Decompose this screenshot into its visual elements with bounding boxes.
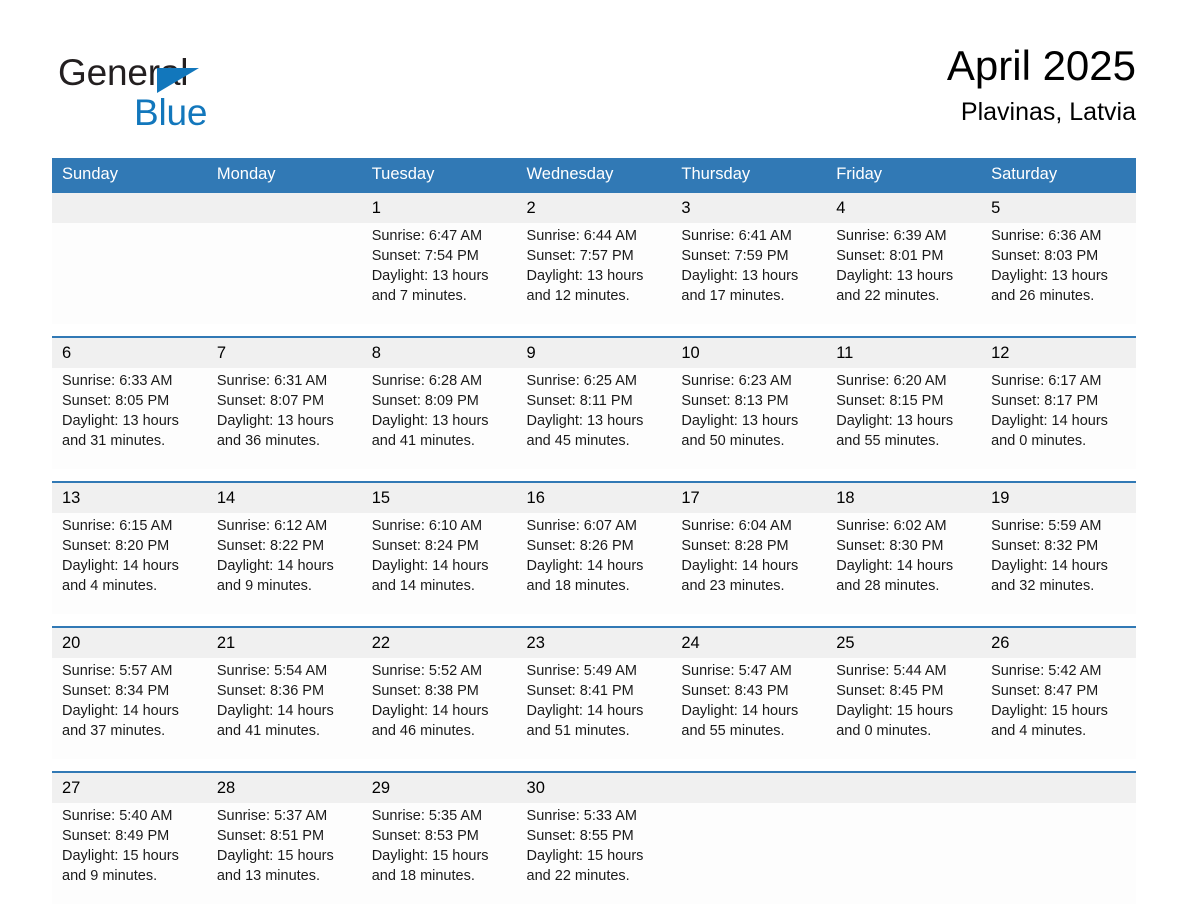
day-detail-line [217,286,354,306]
day-number-23[interactable]: 23 [517,627,672,658]
day-number-25[interactable]: 25 [826,627,981,658]
day-number-empty [52,192,207,223]
day-number-13[interactable]: 13 [52,482,207,513]
day-detail-line: and 41 minutes. [217,721,354,741]
day-detail-line: and 51 minutes. [527,721,664,741]
day-detail-line: Sunrise: 5:47 AM [681,661,818,681]
logo-triangle-icon [157,68,199,93]
day-detail-line: Sunrise: 5:40 AM [62,806,199,826]
page-title: April 2025 [947,40,1136,92]
day-detail-line: Daylight: 14 hours [62,701,199,721]
day-cell-2[interactable]: Sunrise: 6:44 AMSunset: 7:57 PMDaylight:… [517,223,672,324]
day-detail-line: Sunset: 8:38 PM [372,681,509,701]
day-number-24[interactable]: 24 [671,627,826,658]
day-detail-line: and 28 minutes. [836,576,973,596]
logo-text-blue: Blue [134,92,207,133]
day-number-empty [826,772,981,803]
day-detail-line: and 41 minutes. [372,431,509,451]
week-content-row: Sunrise: 6:33 AMSunset: 8:05 PMDaylight:… [52,368,1136,469]
week-daynumber-row: 27282930 [52,772,1136,803]
day-number-4[interactable]: 4 [826,192,981,223]
day-detail-line [681,866,818,886]
weekday-header-thursday: Thursday [671,158,826,191]
day-number-27[interactable]: 27 [52,772,207,803]
week-daynumber-row: 13141516171819 [52,482,1136,513]
day-detail-line: Sunset: 8:11 PM [527,391,664,411]
day-detail-line: and 26 minutes. [991,286,1128,306]
day-detail-line: and 18 minutes. [372,866,509,886]
day-detail-line: Daylight: 13 hours [681,411,818,431]
day-detail-line: Sunrise: 5:57 AM [62,661,199,681]
day-detail-line: Daylight: 13 hours [836,411,973,431]
weekday-header-monday: Monday [207,158,362,191]
day-detail-line [217,246,354,266]
day-number-empty [671,772,826,803]
spacer-cell [52,614,207,627]
day-detail-line: Sunset: 8:13 PM [681,391,818,411]
day-detail-line [991,826,1128,846]
day-detail-line: Daylight: 13 hours [527,266,664,286]
spacer-cell [671,614,826,627]
day-detail-line: Daylight: 13 hours [372,411,509,431]
day-detail-line: Sunrise: 5:44 AM [836,661,973,681]
day-number-6[interactable]: 6 [52,337,207,368]
weekday-header-saturday: Saturday [981,158,1136,191]
day-detail-line: and 9 minutes. [62,866,199,886]
day-detail-line: and 0 minutes. [991,431,1128,451]
week-spacer [52,324,1136,337]
day-cell-24[interactable]: Sunrise: 5:47 AMSunset: 8:43 PMDaylight:… [671,658,826,759]
day-detail-line: Daylight: 13 hours [217,411,354,431]
day-detail-line: Sunrise: 5:33 AM [527,806,664,826]
day-detail-line: Sunset: 8:17 PM [991,391,1128,411]
day-detail-line: Daylight: 14 hours [836,556,973,576]
day-detail-line [217,226,354,246]
calendar-page: General Blue April 2025 Plavinas, Latvia… [0,0,1188,918]
week-daynumber-row: 6789101112 [52,337,1136,368]
day-detail-line: Sunrise: 6:20 AM [836,371,973,391]
spacer-cell [826,469,981,482]
day-detail-line: Sunrise: 6:02 AM [836,516,973,536]
day-detail-line: Sunrise: 6:07 AM [527,516,664,536]
day-detail-line: and 22 minutes. [836,286,973,306]
day-detail-line [681,846,818,866]
day-detail-line: Sunset: 8:36 PM [217,681,354,701]
spacer-cell [207,324,362,337]
weekday-header-sunday: Sunday [52,158,207,191]
weekday-header-tuesday: Tuesday [362,158,517,191]
spacer-cell [52,759,207,772]
day-detail-line: Sunset: 8:15 PM [836,391,973,411]
calendar-container: Sunday Monday Tuesday Wednesday Thursday… [52,158,1136,904]
day-detail-line: Daylight: 13 hours [836,266,973,286]
week-spacer [52,469,1136,482]
spacer-cell [207,614,362,627]
day-detail-line: Sunrise: 6:17 AM [991,371,1128,391]
week-content-row: Sunrise: 6:47 AMSunset: 7:54 PMDaylight:… [52,223,1136,324]
day-detail-line: Daylight: 15 hours [217,846,354,866]
day-detail-line: Sunrise: 6:04 AM [681,516,818,536]
day-cell-26[interactable]: Sunrise: 5:42 AMSunset: 8:47 PMDaylight:… [981,658,1136,759]
day-detail-line: and 23 minutes. [681,576,818,596]
day-detail-line: Daylight: 15 hours [527,846,664,866]
spacer-cell [207,469,362,482]
day-detail-line: Sunset: 8:20 PM [62,536,199,556]
day-cell-12[interactable]: Sunrise: 6:17 AMSunset: 8:17 PMDaylight:… [981,368,1136,469]
day-number-21[interactable]: 21 [207,627,362,658]
day-detail-line [62,286,199,306]
day-detail-line: Daylight: 14 hours [527,556,664,576]
day-detail-line: and 17 minutes. [681,286,818,306]
spacer-cell [517,614,672,627]
week-content-row: Sunrise: 5:40 AMSunset: 8:49 PMDaylight:… [52,803,1136,904]
day-cell-1[interactable]: Sunrise: 6:47 AMSunset: 7:54 PMDaylight:… [362,223,517,324]
day-detail-line: Sunrise: 6:39 AM [836,226,973,246]
day-detail-line: Sunset: 8:28 PM [681,536,818,556]
day-detail-line: Daylight: 15 hours [62,846,199,866]
spacer-cell [981,324,1136,337]
day-cell-9[interactable]: Sunrise: 6:25 AMSunset: 8:11 PMDaylight:… [517,368,672,469]
day-cell-22[interactable]: Sunrise: 5:52 AMSunset: 8:38 PMDaylight:… [362,658,517,759]
day-cell-19[interactable]: Sunrise: 5:59 AMSunset: 8:32 PMDaylight:… [981,513,1136,614]
spacer-cell [981,759,1136,772]
day-cell-21[interactable]: Sunrise: 5:54 AMSunset: 8:36 PMDaylight:… [207,658,362,759]
day-detail-line: Sunset: 7:54 PM [372,246,509,266]
day-detail-line: and 4 minutes. [991,721,1128,741]
day-cell-15[interactable]: Sunrise: 6:10 AMSunset: 8:24 PMDaylight:… [362,513,517,614]
day-detail-line: Daylight: 14 hours [372,556,509,576]
spacer-cell [671,469,826,482]
day-cell-16[interactable]: Sunrise: 6:07 AMSunset: 8:26 PMDaylight:… [517,513,672,614]
day-detail-line [836,846,973,866]
day-cell-empty [207,223,362,324]
day-cell-13[interactable]: Sunrise: 6:15 AMSunset: 8:20 PMDaylight:… [52,513,207,614]
week-spacer [52,759,1136,772]
day-detail-line: Sunset: 8:41 PM [527,681,664,701]
day-detail-line: Daylight: 13 hours [991,266,1128,286]
day-cell-30[interactable]: Sunrise: 5:33 AMSunset: 8:55 PMDaylight:… [517,803,672,904]
day-detail-line: Sunrise: 6:10 AM [372,516,509,536]
day-detail-line: Sunset: 8:05 PM [62,391,199,411]
week-daynumber-row: 20212223242526 [52,627,1136,658]
week-daynumber-row: 12345 [52,192,1136,223]
day-detail-line: Daylight: 14 hours [62,556,199,576]
general-blue-logo[interactable]: General Blue [58,52,358,144]
day-detail-line: Sunrise: 6:41 AM [681,226,818,246]
day-detail-line: and 12 minutes. [527,286,664,306]
day-detail-line [836,826,973,846]
day-detail-line: Sunrise: 6:12 AM [217,516,354,536]
day-cell-27[interactable]: Sunrise: 5:40 AMSunset: 8:49 PMDaylight:… [52,803,207,904]
day-cell-4[interactable]: Sunrise: 6:39 AMSunset: 8:01 PMDaylight:… [826,223,981,324]
day-detail-line: Daylight: 13 hours [62,411,199,431]
spacer-cell [981,614,1136,627]
day-detail-line: Sunrise: 6:44 AM [527,226,664,246]
day-detail-line: Sunset: 8:07 PM [217,391,354,411]
day-detail-line [681,806,818,826]
day-detail-line: and 36 minutes. [217,431,354,451]
spacer-cell [207,759,362,772]
day-detail-line: and 32 minutes. [991,576,1128,596]
day-number-7[interactable]: 7 [207,337,362,368]
spacer-cell [517,759,672,772]
day-detail-line [991,866,1128,886]
spacer-cell [52,324,207,337]
day-cell-empty [826,803,981,904]
day-number-26[interactable]: 26 [981,627,1136,658]
day-detail-line: Daylight: 14 hours [372,701,509,721]
week-content-row: Sunrise: 5:57 AMSunset: 8:34 PMDaylight:… [52,658,1136,759]
day-number-1[interactable]: 1 [362,192,517,223]
day-cell-29[interactable]: Sunrise: 5:35 AMSunset: 8:53 PMDaylight:… [362,803,517,904]
day-cell-20[interactable]: Sunrise: 5:57 AMSunset: 8:34 PMDaylight:… [52,658,207,759]
day-detail-line: Sunset: 8:53 PM [372,826,509,846]
day-detail-line: Sunset: 8:32 PM [991,536,1128,556]
day-detail-line: Sunset: 8:30 PM [836,536,973,556]
day-detail-line: Daylight: 15 hours [836,701,973,721]
day-number-8[interactable]: 8 [362,337,517,368]
day-detail-line: Sunrise: 5:37 AM [217,806,354,826]
day-detail-line: and 0 minutes. [836,721,973,741]
day-detail-line: and 7 minutes. [372,286,509,306]
day-detail-line [681,826,818,846]
day-detail-line: and 37 minutes. [62,721,199,741]
day-detail-line: Sunrise: 5:52 AM [372,661,509,681]
day-cell-empty [671,803,826,904]
spacer-cell [826,324,981,337]
day-number-28[interactable]: 28 [207,772,362,803]
day-detail-line [62,226,199,246]
location-subtitle: Plavinas, Latvia [947,96,1136,128]
spacer-cell [362,759,517,772]
day-detail-line: Sunset: 7:59 PM [681,246,818,266]
day-detail-line: Daylight: 15 hours [372,846,509,866]
day-number-29[interactable]: 29 [362,772,517,803]
spacer-cell [517,469,672,482]
day-detail-line: Daylight: 14 hours [991,556,1128,576]
day-cell-empty [52,223,207,324]
day-number-2[interactable]: 2 [517,192,672,223]
day-detail-line: Sunset: 8:45 PM [836,681,973,701]
day-cell-18[interactable]: Sunrise: 6:02 AMSunset: 8:30 PMDaylight:… [826,513,981,614]
day-detail-line: Sunrise: 6:15 AM [62,516,199,536]
day-cell-25[interactable]: Sunrise: 5:44 AMSunset: 8:45 PMDaylight:… [826,658,981,759]
day-detail-line [62,266,199,286]
day-detail-line: Sunset: 8:03 PM [991,246,1128,266]
day-number-17[interactable]: 17 [671,482,826,513]
day-detail-line: Daylight: 14 hours [217,556,354,576]
page-header: General Blue April 2025 Plavinas, Latvia [52,40,1136,150]
day-detail-line: and 55 minutes. [836,431,973,451]
day-detail-line: and 4 minutes. [62,576,199,596]
week-content-row: Sunrise: 6:15 AMSunset: 8:20 PMDaylight:… [52,513,1136,614]
day-detail-line: and 13 minutes. [217,866,354,886]
day-detail-line: Sunrise: 6:25 AM [527,371,664,391]
spacer-cell [671,759,826,772]
day-cell-23[interactable]: Sunrise: 5:49 AMSunset: 8:41 PMDaylight:… [517,658,672,759]
day-number-18[interactable]: 18 [826,482,981,513]
day-detail-line: Sunrise: 5:42 AM [991,661,1128,681]
day-number-22[interactable]: 22 [362,627,517,658]
day-detail-line: Sunset: 8:55 PM [527,826,664,846]
day-cell-6[interactable]: Sunrise: 6:33 AMSunset: 8:05 PMDaylight:… [52,368,207,469]
calendar-header-row: Sunday Monday Tuesday Wednesday Thursday… [52,158,1136,191]
day-detail-line: Daylight: 13 hours [681,266,818,286]
day-detail-line: Sunset: 8:09 PM [372,391,509,411]
day-detail-line: Daylight: 14 hours [217,701,354,721]
day-number-9[interactable]: 9 [517,337,672,368]
day-detail-line: Sunset: 8:01 PM [836,246,973,266]
day-detail-line: Daylight: 13 hours [527,411,664,431]
day-detail-line: Sunrise: 6:33 AM [62,371,199,391]
day-detail-line: Sunset: 8:47 PM [991,681,1128,701]
day-detail-line: Sunrise: 6:47 AM [372,226,509,246]
day-detail-line: Daylight: 15 hours [991,701,1128,721]
day-detail-line: Sunrise: 5:59 AM [991,516,1128,536]
week-spacer [52,614,1136,627]
day-detail-line [217,266,354,286]
calendar-body: 12345 Sunrise: 6:47 AMSunset: 7:54 PMDay… [52,191,1136,904]
weekday-header-wednesday: Wednesday [517,158,672,191]
day-cell-10[interactable]: Sunrise: 6:23 AMSunset: 8:13 PMDaylight:… [671,368,826,469]
day-detail-line: and 22 minutes. [527,866,664,886]
day-detail-line [836,866,973,886]
spacer-cell [826,614,981,627]
day-detail-line: and 46 minutes. [372,721,509,741]
day-detail-line: Sunset: 8:22 PM [217,536,354,556]
day-detail-line [62,246,199,266]
day-detail-line: Daylight: 14 hours [527,701,664,721]
day-cell-28[interactable]: Sunrise: 5:37 AMSunset: 8:51 PMDaylight:… [207,803,362,904]
day-detail-line: Sunrise: 5:54 AM [217,661,354,681]
day-detail-line [991,846,1128,866]
day-detail-line: and 14 minutes. [372,576,509,596]
day-detail-line: and 18 minutes. [527,576,664,596]
spacer-cell [517,324,672,337]
day-detail-line: Daylight: 13 hours [372,266,509,286]
day-number-19[interactable]: 19 [981,482,1136,513]
day-detail-line: Sunset: 8:43 PM [681,681,818,701]
day-detail-line: Daylight: 14 hours [991,411,1128,431]
day-number-5[interactable]: 5 [981,192,1136,223]
day-number-empty [981,772,1136,803]
day-cell-3[interactable]: Sunrise: 6:41 AMSunset: 7:59 PMDaylight:… [671,223,826,324]
day-cell-empty [981,803,1136,904]
day-detail-line: Sunset: 8:51 PM [217,826,354,846]
spacer-cell [826,759,981,772]
calendar-table: Sunday Monday Tuesday Wednesday Thursday… [52,158,1136,904]
day-detail-line: Daylight: 14 hours [681,701,818,721]
day-detail-line: and 45 minutes. [527,431,664,451]
day-cell-5[interactable]: Sunrise: 6:36 AMSunset: 8:03 PMDaylight:… [981,223,1136,324]
day-detail-line: Sunset: 8:34 PM [62,681,199,701]
day-number-16[interactable]: 16 [517,482,672,513]
day-detail-line [836,806,973,826]
day-detail-line: Sunrise: 6:31 AM [217,371,354,391]
weekday-header-friday: Friday [826,158,981,191]
day-number-3[interactable]: 3 [671,192,826,223]
day-number-14[interactable]: 14 [207,482,362,513]
day-detail-line: Sunset: 8:24 PM [372,536,509,556]
day-number-12[interactable]: 12 [981,337,1136,368]
day-detail-line: and 50 minutes. [681,431,818,451]
day-detail-line: and 55 minutes. [681,721,818,741]
day-detail-line: Sunset: 8:49 PM [62,826,199,846]
day-detail-line [991,806,1128,826]
day-detail-line: Sunrise: 6:23 AM [681,371,818,391]
day-detail-line: Sunset: 7:57 PM [527,246,664,266]
spacer-cell [362,469,517,482]
day-detail-line: Daylight: 14 hours [681,556,818,576]
day-detail-line: Sunrise: 6:28 AM [372,371,509,391]
day-number-15[interactable]: 15 [362,482,517,513]
day-cell-7[interactable]: Sunrise: 6:31 AMSunset: 8:07 PMDaylight:… [207,368,362,469]
day-cell-11[interactable]: Sunrise: 6:20 AMSunset: 8:15 PMDaylight:… [826,368,981,469]
day-number-30[interactable]: 30 [517,772,672,803]
day-detail-line: Sunrise: 6:36 AM [991,226,1128,246]
day-cell-8[interactable]: Sunrise: 6:28 AMSunset: 8:09 PMDaylight:… [362,368,517,469]
day-number-empty [207,192,362,223]
title-block: April 2025 Plavinas, Latvia [947,40,1136,128]
day-detail-line: Sunrise: 5:35 AM [372,806,509,826]
day-detail-line: Sunset: 8:26 PM [527,536,664,556]
spacer-cell [671,324,826,337]
day-detail-line: and 31 minutes. [62,431,199,451]
spacer-cell [981,469,1136,482]
day-cell-17[interactable]: Sunrise: 6:04 AMSunset: 8:28 PMDaylight:… [671,513,826,614]
day-detail-line: and 9 minutes. [217,576,354,596]
day-number-20[interactable]: 20 [52,627,207,658]
spacer-cell [52,469,207,482]
day-detail-line: Sunrise: 5:49 AM [527,661,664,681]
spacer-cell [362,614,517,627]
day-cell-14[interactable]: Sunrise: 6:12 AMSunset: 8:22 PMDaylight:… [207,513,362,614]
day-number-11[interactable]: 11 [826,337,981,368]
day-number-10[interactable]: 10 [671,337,826,368]
spacer-cell [362,324,517,337]
